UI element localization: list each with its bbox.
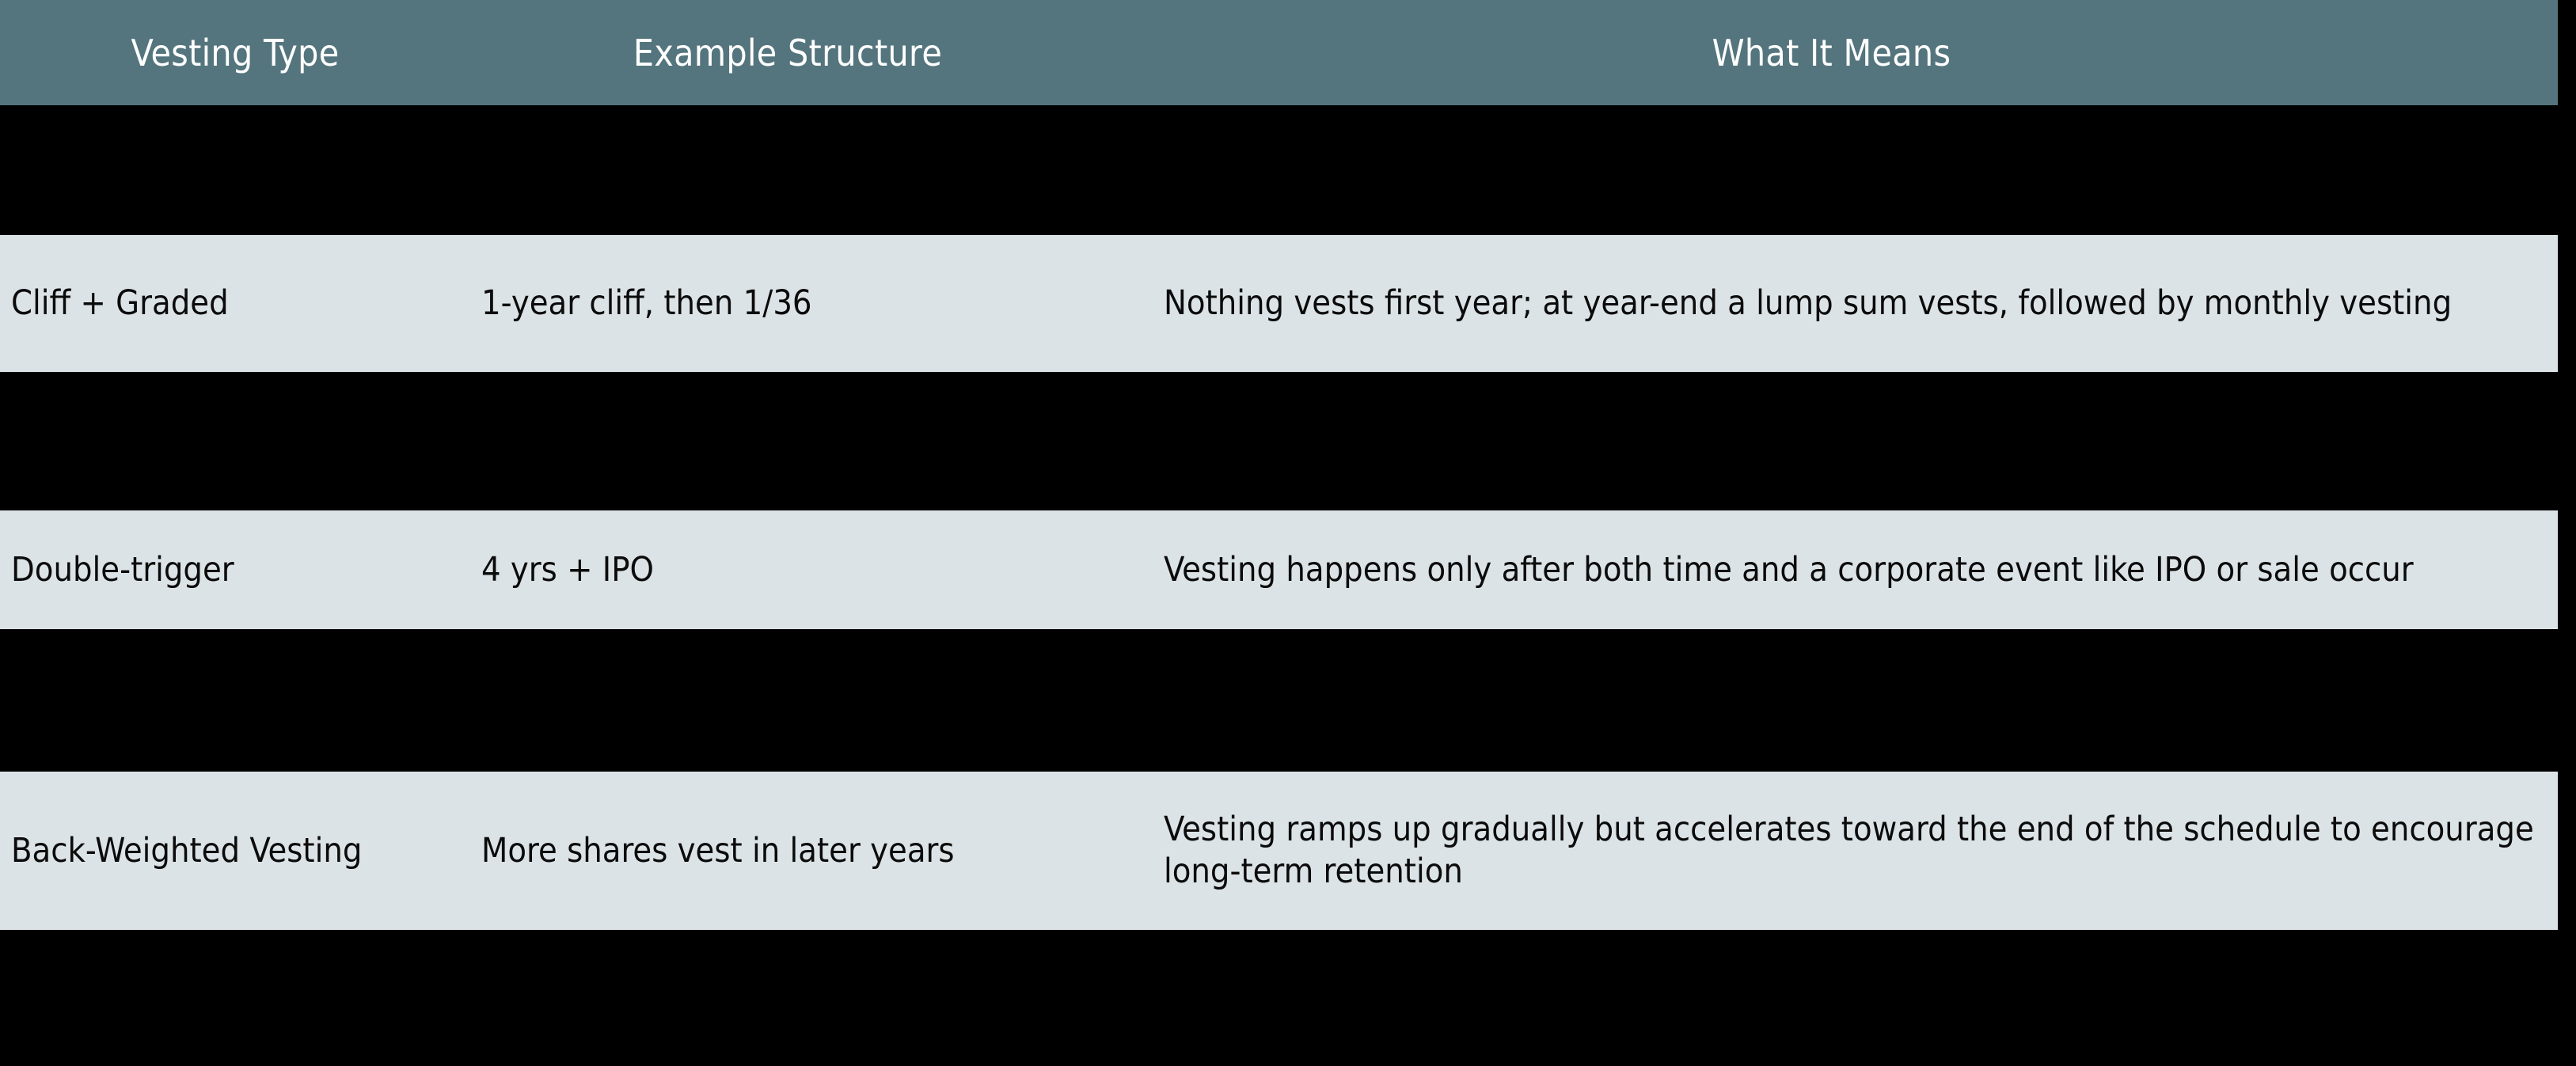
table-header-row: Vesting Type Example Structure What It M…: [0, 0, 2558, 105]
table-row: Double-trigger 4 yrs + IPO Vesting happe…: [0, 510, 2558, 629]
column-header-what-it-means: What It Means: [1105, 0, 2558, 105]
cell-what-it-means: Vesting happens only after both time and…: [1164, 510, 2553, 629]
cell-example-structure: 1-year cliff, then 1/36: [481, 235, 1099, 372]
cell-vesting-type: Double-trigger: [11, 510, 454, 629]
cell-example-structure: More shares vest in later years: [481, 772, 1099, 930]
cell-vesting-type: Back-Weighted Vesting: [11, 772, 454, 930]
cell-what-it-means: Vesting ramps up gradually but accelerat…: [1164, 772, 2553, 930]
table-row: Cliff + Graded 1-year cliff, then 1/36 N…: [0, 235, 2558, 372]
cell-example-structure: 4 yrs + IPO: [481, 510, 1099, 629]
cell-what-it-means: Nothing vests first year; at year-end a …: [1164, 235, 2553, 372]
column-header-vesting-type: Vesting Type: [0, 0, 470, 105]
column-header-example-structure: Example Structure: [470, 0, 1105, 105]
cell-vesting-type: Cliff + Graded: [11, 235, 454, 372]
vesting-comparison-table: Vesting Type Example Structure What It M…: [0, 0, 2576, 1066]
table-row: Back-Weighted Vesting More shares vest i…: [0, 772, 2558, 930]
